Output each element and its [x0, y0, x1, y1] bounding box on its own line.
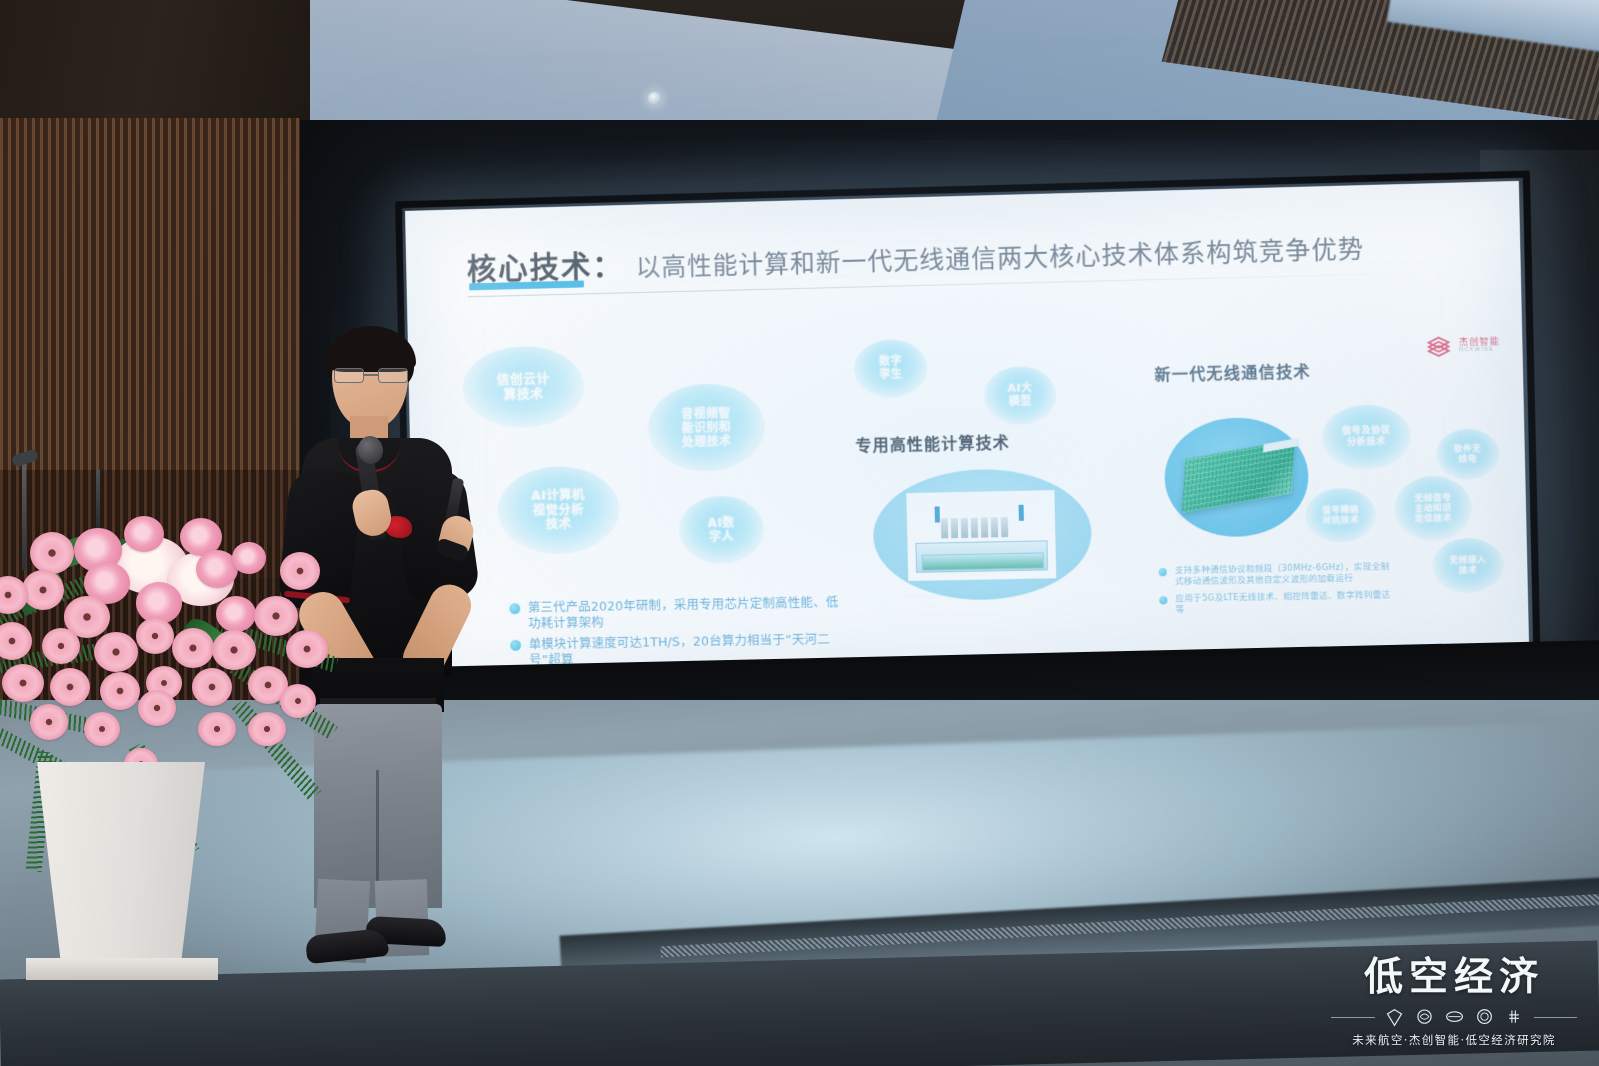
bubble-line: 软件无 — [1454, 444, 1482, 455]
gerbera — [100, 672, 140, 710]
bullet-text: 第三代产品2020年研制，采用专用芯片定制高性能、低功耗计算架构 — [528, 594, 851, 631]
bubble-line: 定位技术 — [1415, 513, 1452, 524]
server-handle-right — [1019, 505, 1024, 521]
slide-canvas: 核心技术：以高性能计算和新一代无线通信两大核心技术体系构筑竞争优势 杰创智能 N… — [405, 181, 1529, 683]
right-section-heading: 新一代无线通信技术 — [1154, 358, 1311, 386]
watermark-title: 低空经济 — [1331, 946, 1577, 1002]
bullet-dot-icon — [1159, 568, 1167, 576]
gerbera — [286, 630, 328, 668]
bubble-line: 字人 — [708, 530, 735, 545]
bubble-line: 处理技术 — [682, 434, 732, 449]
bubble-right-4: 无线接入 技术 — [1432, 537, 1505, 593]
rose — [124, 516, 164, 552]
brand-name-en: NCXWISE — [1459, 347, 1500, 354]
led-presentation-screen: 核心技术：以高性能计算和新一代无线通信两大核心技术体系构筑竞争优势 杰创智能 N… — [405, 181, 1529, 683]
rose — [216, 596, 256, 632]
bullet-text: 支持多种通信协议和频段（30MHz-6GHz），实现全制式移动通信波形及其他自定… — [1175, 562, 1392, 588]
brand-logo: 杰创智能 NCXWISE — [1424, 331, 1500, 361]
gerbera — [2, 664, 44, 702]
partner-logo-icon — [1444, 1007, 1465, 1028]
bubble-line: 模型 — [1008, 395, 1033, 409]
stacked-s-logo-icon — [1424, 332, 1453, 361]
downlight-icon — [648, 92, 661, 105]
bubble-right-0: 信号及协议 分析技术 — [1321, 404, 1412, 470]
glasses-icon — [334, 368, 408, 383]
gerbera — [42, 628, 80, 664]
bullet-text: 应用于5G及LTE无线技术、相控阵雷达、数字阵列雷达等 — [1175, 590, 1392, 616]
bullet-item: 支持多种通信协议和频段（30MHz-6GHz），实现全制式移动通信波形及其他自定… — [1159, 562, 1392, 589]
bubble-right-1: 软件无 线电 — [1435, 428, 1499, 480]
gerbera — [172, 628, 214, 668]
bubble-left-1: 音视频智 能识别和 处理技术 — [647, 383, 766, 473]
photo-scene: 核心技术：以高性能计算和新一代无线通信两大核心技术体系构筑竞争优势 杰创智能 N… — [0, 0, 1599, 1066]
center-device-image — [906, 490, 1056, 581]
gerbera — [136, 618, 174, 654]
gerbera — [50, 668, 90, 706]
speaker-hair-top — [326, 326, 416, 372]
gerbera — [30, 532, 74, 574]
gerbera — [212, 630, 256, 670]
vase-base — [26, 958, 218, 980]
center-section-heading: 专用高性能计算技术 — [855, 429, 1010, 456]
bubble-line: 分析技术 — [1342, 437, 1391, 449]
gerbera — [254, 596, 298, 636]
partner-logo-icon — [1384, 1007, 1405, 1028]
event-watermark: 低空经济 未来航空·杰创智能·低空经济研究院 — [1331, 946, 1577, 1048]
gerbera — [30, 704, 68, 740]
bullet-dot-icon — [1159, 596, 1167, 604]
gerbera — [280, 684, 316, 718]
bubble-right-3: 无线信号 主动知识 定位技术 — [1394, 475, 1473, 541]
bubble-center-0: 数字 孪生 — [853, 339, 928, 399]
bubble-line: 无线接入 — [1449, 555, 1486, 566]
divider-line — [1534, 1017, 1578, 1018]
title-accent-underline — [469, 281, 584, 291]
bubble-line: 对抗技术 — [1322, 515, 1359, 526]
gerbera — [280, 552, 320, 590]
gerbera — [94, 632, 138, 672]
bullet-item: 应用于5G及LTE无线技术、相控阵雷达、数字阵列雷达等 — [1159, 590, 1392, 616]
server-slot-row — [941, 517, 1021, 539]
partner-logo-icon — [1474, 1007, 1495, 1028]
bubble-line: 技术 — [1450, 565, 1487, 576]
bubble-line: 孪生 — [879, 368, 902, 381]
bubble-right-2: 信号精确 对抗技术 — [1305, 487, 1377, 543]
partner-logo-icon — [1504, 1007, 1525, 1028]
bubble-line: 音视频智 — [681, 406, 731, 421]
gerbera — [22, 570, 64, 610]
partner-logo-icon — [1414, 1007, 1435, 1028]
gerbera — [138, 690, 176, 726]
gerbera — [248, 712, 286, 746]
divider-line — [1331, 1017, 1375, 1018]
rose — [232, 542, 266, 574]
bubble-line: 能识别和 — [681, 420, 731, 435]
bubble-line: AI数 — [708, 515, 735, 530]
right-bullet-list: 支持多种通信协议和频段（30MHz-6GHz），实现全制式移动通信波形及其他自定… — [1159, 562, 1393, 623]
brand-text: 杰创智能 NCXWISE — [1459, 338, 1500, 354]
server-handle-left — [935, 506, 940, 522]
bullet-item: 第三代产品2020年研制，采用专用芯片定制高性能、低功耗计算架构 — [509, 594, 850, 631]
watermark-logo-row — [1331, 1007, 1577, 1028]
watermark-subtitle: 未来航空·杰创智能·低空经济研究院 — [1331, 1032, 1577, 1048]
bubble-center-1: AI大 模型 — [984, 366, 1057, 426]
gerbera — [84, 712, 120, 746]
gerbera — [192, 668, 232, 706]
slide-title: 核心技术：以高性能计算和新一代无线通信两大核心技术体系构筑竞争优势 — [466, 221, 1364, 288]
bubble-left-3: AI数 字人 — [678, 495, 765, 564]
server-chassis-front — [922, 552, 1044, 570]
gerbera — [198, 712, 236, 746]
bubble-line: 线电 — [1454, 454, 1482, 465]
